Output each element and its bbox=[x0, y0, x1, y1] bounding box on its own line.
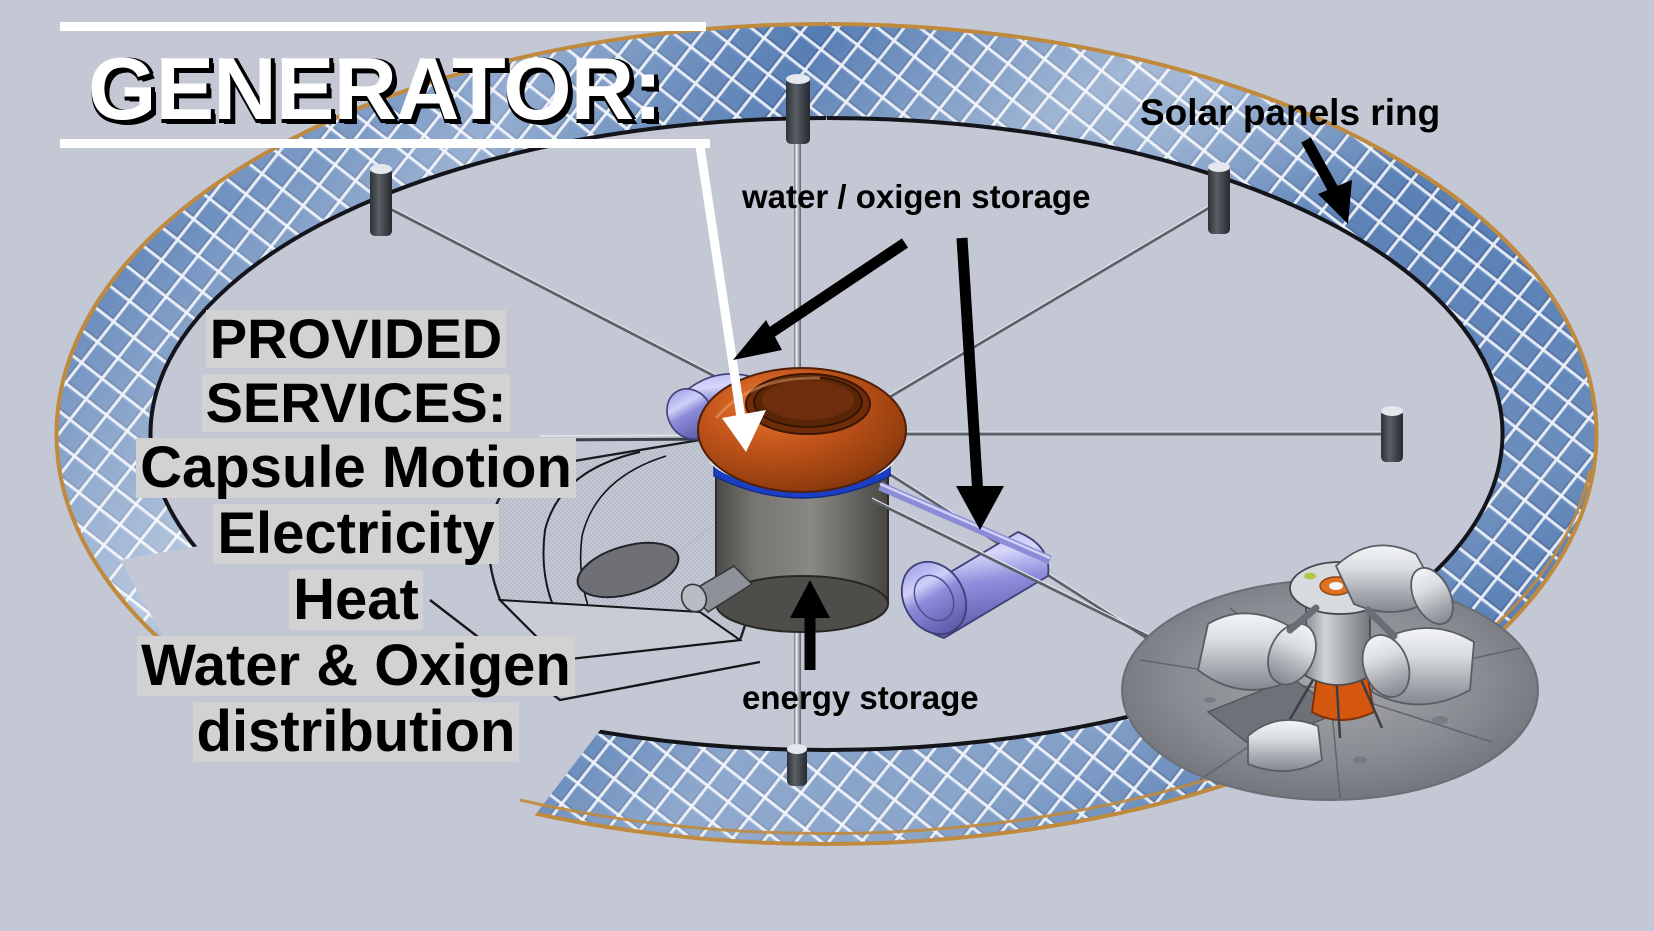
generator-hub bbox=[658, 368, 1152, 646]
title-rule-bottom bbox=[60, 139, 710, 148]
service-item-heat: Heat bbox=[96, 570, 616, 630]
title-rule-top bbox=[60, 22, 706, 31]
arrow-water-oxigen-storage bbox=[733, 243, 905, 360]
arrow-storage-to-tank bbox=[956, 238, 1004, 530]
service-item-capsule-motion: Capsule Motion bbox=[96, 438, 616, 498]
label-water-oxigen-storage: water / oxigen storage bbox=[742, 178, 1090, 216]
service-item-water-oxigen: Water & Oxigen bbox=[96, 636, 616, 696]
service-item-electricity: Electricity bbox=[96, 504, 616, 564]
diagram-canvas: GENERATOR: PROVIDED SERVICES: Capsule Mo… bbox=[0, 0, 1654, 931]
services-heading-line-1: PROVIDED bbox=[96, 310, 616, 368]
service-item-distribution: distribution bbox=[96, 702, 616, 762]
propellant-tank-right bbox=[880, 484, 1050, 646]
services-heading-line-2: SERVICES: bbox=[96, 374, 616, 432]
label-energy-storage: energy storage bbox=[742, 679, 979, 717]
label-solar-panels-ring: Solar panels ring bbox=[1140, 92, 1440, 134]
provided-services-block: PROVIDED SERVICES: Capsule Motion Electr… bbox=[96, 310, 616, 768]
page-title: GENERATOR: bbox=[88, 45, 661, 133]
